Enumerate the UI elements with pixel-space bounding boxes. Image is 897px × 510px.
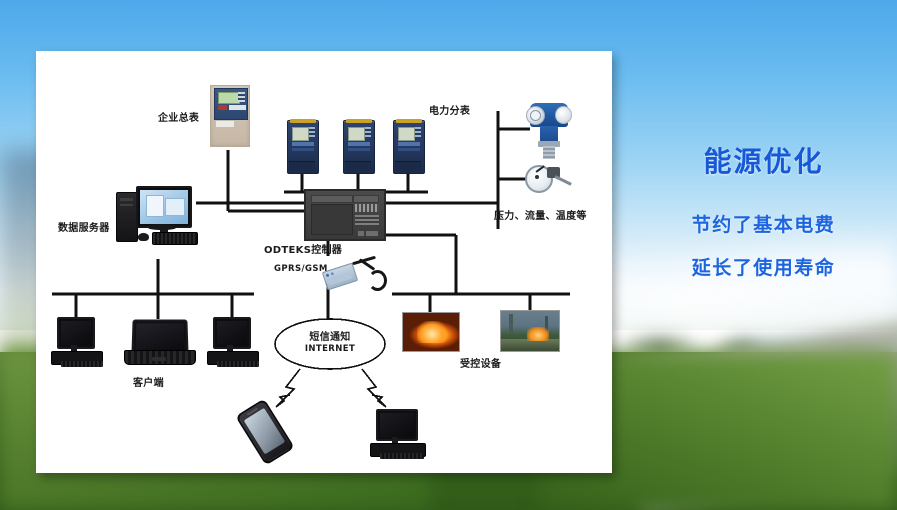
- server-drive-slot: [120, 198, 133, 201]
- client-desktop-left[interactable]: [51, 317, 107, 369]
- enterprise-meter-lcd: [218, 92, 240, 104]
- remote-desktop-device[interactable]: [368, 409, 430, 463]
- server-keyboard: [152, 232, 198, 245]
- controller-display: [311, 204, 353, 235]
- transmitter-dial: [530, 110, 541, 121]
- enterprise-meter-face: [214, 88, 248, 120]
- controller-button-left[interactable]: [366, 231, 378, 236]
- enterprise-meter-indicator: [218, 105, 227, 110]
- submeter-2-band2: [348, 148, 370, 151]
- marketing-line-1: 节约了基本电费: [636, 210, 891, 237]
- enterprise-meter-device[interactable]: [210, 85, 250, 147]
- plant-stack-1: [509, 314, 513, 332]
- label-sensors: 压力、流量、温度等: [494, 211, 587, 223]
- submeter-3-base: [395, 161, 421, 171]
- remote-screen: [380, 413, 414, 437]
- submeter-1-band: [292, 142, 314, 146]
- label-data-server: 数据服务器: [58, 223, 110, 235]
- plant-fire: [527, 327, 549, 341]
- diagram-panel: 企业总表 电力分表: [36, 51, 612, 473]
- power-submeter-1[interactable]: [287, 120, 319, 174]
- gauge-hub: [535, 175, 539, 179]
- controller-status-strip: [353, 195, 379, 203]
- laptop-touchpad: [152, 357, 166, 361]
- server-mouse: [138, 233, 149, 241]
- submeter-3-keys: [415, 127, 421, 139]
- odteks-controller-device[interactable]: [304, 189, 386, 241]
- server-screen-window-1: [146, 195, 164, 217]
- power-submeter-3[interactable]: [393, 120, 425, 174]
- controller-title-bar: [311, 195, 353, 203]
- label-gprs-gsm: GPRS/GSM: [274, 265, 328, 275]
- power-submeter-2[interactable]: [343, 120, 375, 174]
- submeter-2-lcd: [348, 127, 365, 141]
- modem-antenna-coil: [368, 270, 387, 291]
- submeter-1-cap: [290, 119, 316, 123]
- submeter-1-keys: [309, 127, 315, 139]
- modem-led-2: [330, 272, 334, 276]
- controller-keypad: [355, 215, 379, 226]
- laptop-screen: [136, 323, 185, 351]
- label-controlled-equipment: 受控设备: [460, 359, 501, 371]
- gprs-modem-device[interactable]: [324, 257, 394, 297]
- controller-terminal-block: [355, 204, 379, 212]
- client-left-keyboard: [61, 361, 103, 367]
- remote-keyboard: [380, 453, 424, 459]
- phone-screen: [244, 408, 286, 455]
- server-tower: [116, 192, 138, 242]
- client-right-screen: [217, 321, 247, 345]
- transmitter-stem: [543, 146, 555, 159]
- marketing-title: 能源优化: [636, 140, 891, 180]
- server-drive-slot-2: [120, 204, 133, 206]
- server-screen-window-2: [165, 198, 185, 216]
- submeter-1-band2: [292, 148, 314, 151]
- server-screen: [140, 190, 188, 224]
- submeter-2-band: [348, 142, 370, 146]
- enterprise-meter-strip: [229, 105, 246, 110]
- transmitter-cap-right: [555, 106, 572, 124]
- submeter-1-base: [289, 161, 315, 171]
- data-server-device[interactable]: [116, 186, 200, 246]
- pressure-transmitter-device[interactable]: [526, 101, 572, 161]
- label-client: 客户端: [133, 378, 164, 390]
- label-power-submeters: 电力分表: [429, 106, 470, 118]
- submeter-2-keys: [365, 127, 371, 139]
- client-laptop[interactable]: [124, 319, 196, 369]
- label-sms-notify: 短信通知: [300, 332, 360, 344]
- label-enterprise-meter: 企业总表: [158, 113, 199, 125]
- client-left-screen: [61, 321, 91, 345]
- label-odteks-controller: ODTEKS控制器: [264, 245, 342, 257]
- enterprise-meter-tag: [215, 120, 235, 128]
- server-monitor: [136, 186, 192, 228]
- submeter-2-base: [345, 161, 371, 171]
- pressure-gauge-device[interactable]: [525, 163, 571, 197]
- submeter-3-lcd: [398, 127, 415, 141]
- controller-button-right[interactable]: [358, 231, 364, 236]
- label-internet: INTERNET: [300, 345, 360, 355]
- submeter-1-lcd: [292, 127, 309, 141]
- marketing-text-column: 能源优化 节约了基本电费 延长了使用寿命: [636, 140, 891, 280]
- marketing-line-2: 延长了使用寿命: [636, 253, 891, 280]
- client-desktop-right[interactable]: [207, 317, 263, 369]
- furnace-photo[interactable]: [402, 312, 460, 352]
- submeter-3-band2: [398, 148, 420, 151]
- submeter-3-band: [398, 142, 420, 146]
- plant-photo[interactable]: [500, 310, 560, 352]
- transmitter-neck: [540, 126, 558, 142]
- submeter-3-cap: [396, 119, 422, 123]
- mobile-phone-device[interactable]: [248, 403, 306, 465]
- submeter-2-cap: [346, 119, 372, 123]
- server-monitor-foot: [148, 224, 176, 230]
- client-right-keyboard: [217, 361, 259, 367]
- furnace-glow: [417, 321, 447, 343]
- gauge-probe: [554, 175, 571, 186]
- enterprise-meter-buttons: [238, 92, 245, 102]
